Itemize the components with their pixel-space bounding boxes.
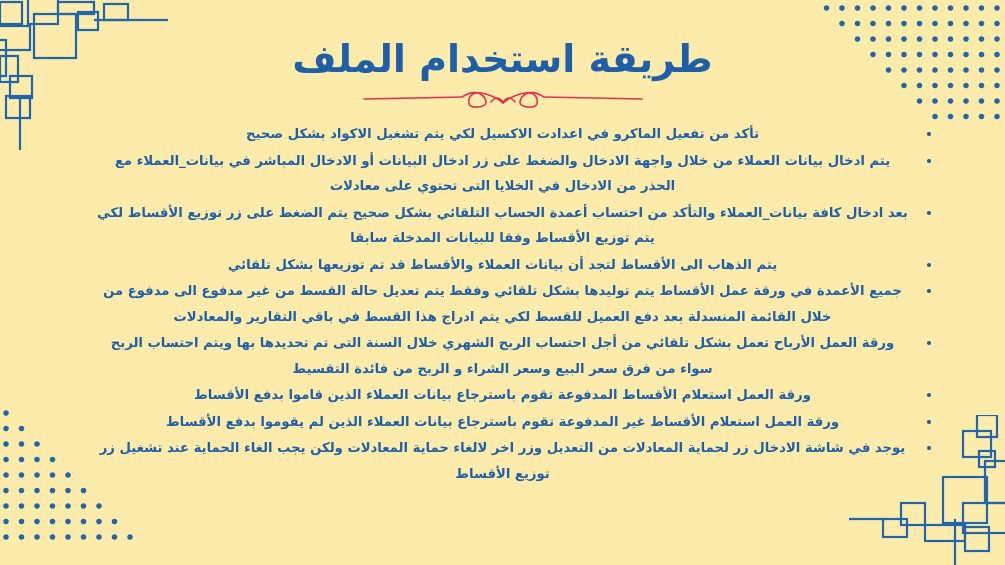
- list-item: تأكد من تفعيل الماكرو في اعدادت الاكسيل …: [74, 122, 931, 148]
- list-item: يتم الذهاب الى الأقساط لتجد أن بيانات ال…: [74, 253, 931, 279]
- slide-canvas: طريقة استخدام الملف تأكد من تفعيل الماكر…: [0, 0, 1005, 565]
- list-item: ورقة العمل الأرباح تعمل بشكل تلقائي من أ…: [74, 331, 931, 382]
- bullet-dot-icon: [927, 393, 931, 397]
- list-item-text: ورقة العمل الأرباح تعمل بشكل تلقائي من أ…: [96, 331, 909, 382]
- instructions-list: تأكد من تفعيل الماكرو في اعدادت الاكسيل …: [74, 122, 931, 487]
- list-item: ورقة العمل استعلام الأقساط غير المدفوعة …: [74, 410, 931, 436]
- list-item-text: ورقة العمل استعلام الأقساط المدفوعة تقوم…: [96, 383, 909, 409]
- list-item: بعد ادخال كافة بيانات_العملاء والتأكد من…: [74, 201, 931, 252]
- bullet-dot-icon: [927, 420, 931, 424]
- page-title: طريقة استخدام الملف: [0, 38, 1005, 82]
- bullet-dot-icon: [927, 446, 931, 450]
- bullet-dot-icon: [927, 132, 931, 136]
- bullet-dot-icon: [927, 159, 931, 163]
- list-item-text: جميع الأعمدة في ورقة عمل الأقساط يتم تول…: [96, 279, 909, 330]
- list-item: جميع الأعمدة في ورقة عمل الأقساط يتم تول…: [74, 279, 931, 330]
- list-item: ورقة العمل استعلام الأقساط المدفوعة تقوم…: [74, 383, 931, 409]
- list-item: يتم ادخال بيانات العملاء من خلال واجهة ا…: [74, 149, 931, 200]
- bullet-dot-icon: [927, 211, 931, 215]
- list-item-text: يوجد في شاشة الادخال زر لحماية المعادلات…: [96, 436, 909, 487]
- bullet-dot-icon: [927, 263, 931, 267]
- list-item-text: يتم ادخال بيانات العملاء من خلال واجهة ا…: [96, 149, 909, 200]
- bullet-dot-icon: [927, 341, 931, 345]
- list-item-text: تأكد من تفعيل الماكرو في اعدادت الاكسيل …: [96, 122, 909, 148]
- list-item: يوجد في شاشة الادخال زر لحماية المعادلات…: [74, 436, 931, 487]
- list-item-text: يتم الذهاب الى الأقساط لتجد أن بيانات ال…: [96, 253, 909, 279]
- list-item-text: ورقة العمل استعلام الأقساط غير المدفوعة …: [96, 410, 909, 436]
- body-content: تأكد من تفعيل الماكرو في اعدادت الاكسيل …: [74, 122, 931, 488]
- title-block: طريقة استخدام الملف: [0, 38, 1005, 112]
- flourish-divider-icon: [358, 86, 648, 112]
- bullet-dot-icon: [927, 289, 931, 293]
- list-item-text: بعد ادخال كافة بيانات_العملاء والتأكد من…: [96, 201, 909, 252]
